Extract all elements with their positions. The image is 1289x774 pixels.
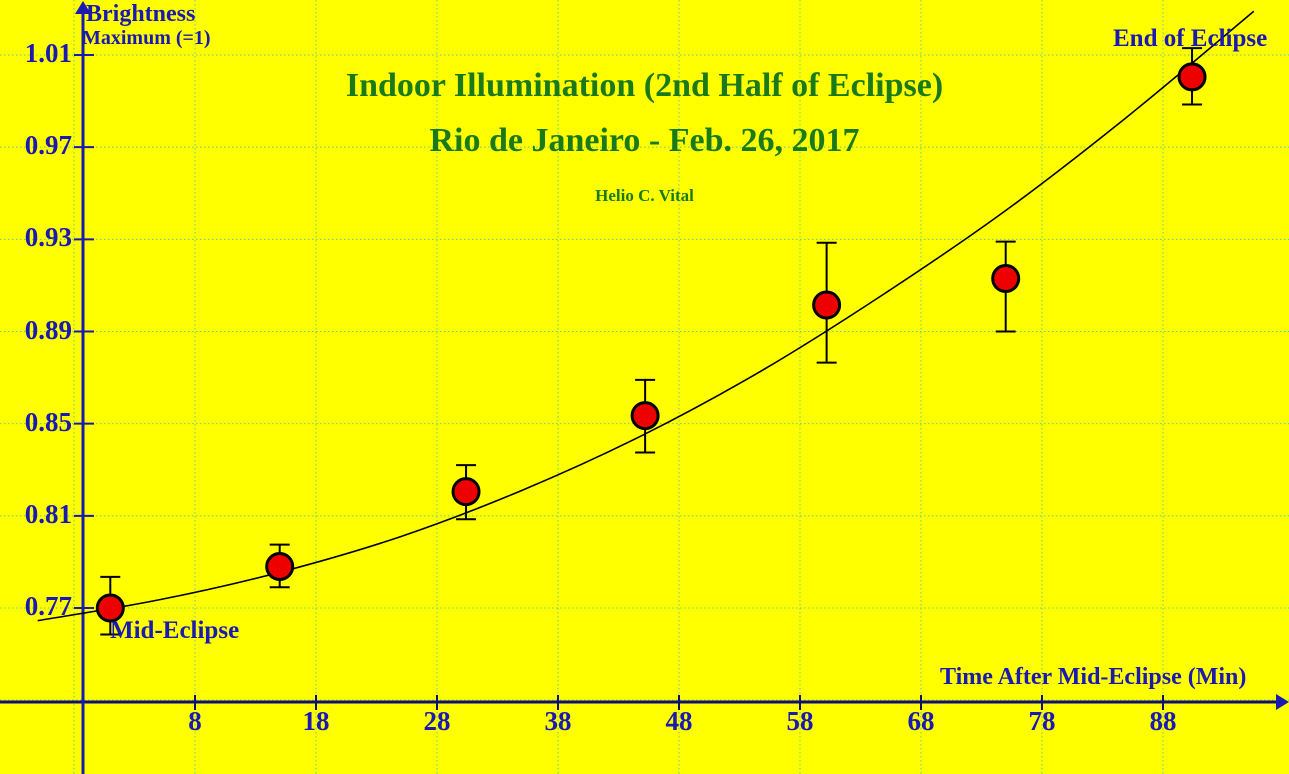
- y-tick-label: 0.93: [0, 222, 72, 253]
- x-tick-label: 68: [881, 706, 961, 737]
- y-tick-label: 0.81: [0, 499, 72, 530]
- x-tick-label: 8: [155, 706, 235, 737]
- vertical-gridlines: [74, 0, 1163, 774]
- y-axis: [74, 1, 94, 774]
- x-axis-title: Time After Mid-Eclipse (Min): [940, 664, 1246, 691]
- chart-subtitle: Rio de Janeiro - Feb. 26, 2017: [0, 122, 1289, 160]
- annotation-end-of-eclipse: End of Eclipse: [1113, 25, 1267, 53]
- x-tick-label: 28: [397, 706, 477, 737]
- annotation-mid-eclipse: Mid-Eclipse: [110, 617, 239, 645]
- x-tick-label: 38: [518, 706, 598, 737]
- x-tick-label: 48: [639, 706, 719, 737]
- y-tick-label: 0.77: [0, 591, 72, 622]
- chart-canvas: Brightness Maximum (=1) Time After Mid-E…: [0, 0, 1289, 774]
- chart-plot-area: [0, 0, 1289, 774]
- y-tick-label: 0.85: [0, 407, 72, 438]
- chart-author: Helio C. Vital: [0, 186, 1289, 206]
- y-tick-label: 1.01: [0, 38, 72, 69]
- chart-title: Indoor Illumination (2nd Half of Eclipse…: [0, 67, 1289, 105]
- x-tick-label: 58: [760, 706, 840, 737]
- x-tick-label: 78: [1002, 706, 1082, 737]
- y-axis-title-line1: Brightness: [86, 1, 195, 28]
- y-tick-label: 0.97: [0, 130, 72, 161]
- x-tick-label: 88: [1123, 706, 1203, 737]
- y-axis-title-line2: Maximum (=1): [82, 27, 211, 50]
- y-tick-label: 0.89: [0, 315, 72, 346]
- x-tick-label: 18: [276, 706, 356, 737]
